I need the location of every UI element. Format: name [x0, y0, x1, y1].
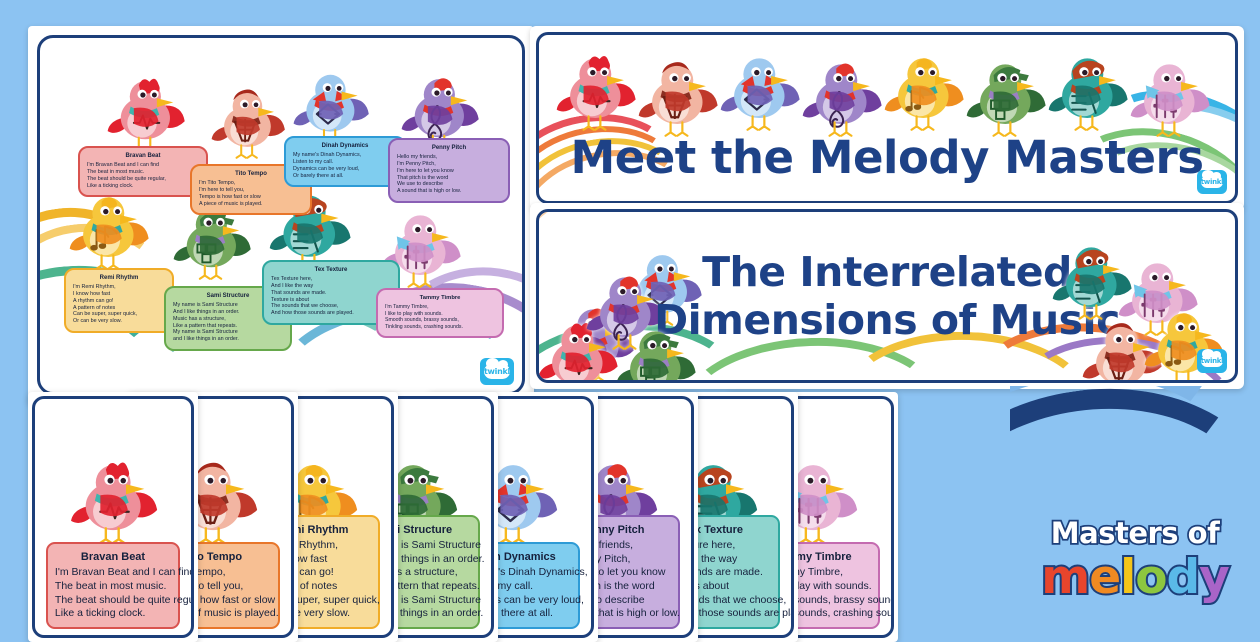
- twinkl-logo: twinkl: [1197, 170, 1227, 194]
- bubble-line: Or can be very slow.: [73, 318, 165, 325]
- card-frame: Bravan BeatI'm Bravan Beat and I can fin…: [32, 396, 194, 638]
- masters-of-melody-wordmark: Masters ofmelody: [1010, 516, 1260, 605]
- twinkl-logo-text: twinkl: [1201, 357, 1223, 365]
- bubble-line: I'm here to tell you,: [199, 187, 303, 194]
- bird-bravan-beat: [106, 72, 188, 150]
- bird-dinah-dynamics: [719, 49, 803, 129]
- bird-tito-tempo: [637, 55, 721, 135]
- bubble-line: I know how fast: [73, 291, 165, 298]
- banner-interrelated-dimensions-of-music[interactable]: The Interrelated Dimensions of Music twi…: [530, 203, 1244, 389]
- bubble-bravan-beat: Bravan BeatI'm Bravan Beat and I can fin…: [78, 146, 208, 197]
- bubble-remi-rhythm: Remi RhythmI'm Remi Rhythm,I know how fa…: [64, 268, 174, 333]
- bird-tammy-timbre: [1129, 55, 1213, 135]
- bubble-line: Texture is about: [271, 297, 391, 304]
- banner1-frame: Meet the Melody Masters twinkl: [536, 32, 1238, 204]
- logo-letter: l: [1120, 550, 1135, 605]
- logo-letter: m: [1041, 550, 1089, 605]
- twinkl-logo-text: twinkl: [484, 367, 510, 376]
- banner2-frame: The Interrelated Dimensions of Music twi…: [536, 209, 1238, 383]
- bubble-line: Tinkling sounds, crashing sounds.: [385, 324, 495, 330]
- bird-penny-pitch: [400, 70, 482, 148]
- bird-sami-structure: [615, 322, 699, 383]
- logo-letter: e: [1089, 550, 1120, 605]
- card-line: Like a ticking clock.: [55, 607, 171, 621]
- bubble-line: A rhythm can go!: [73, 298, 165, 305]
- bird-dinah-dynamics: [292, 66, 372, 142]
- bubble-line: Tex Texture here,: [271, 276, 391, 283]
- bubble-title: Remi Rhythm: [73, 275, 165, 282]
- card-line: I'm Bravan Beat and I can find: [55, 566, 171, 580]
- logo-letter: d: [1167, 550, 1200, 605]
- bubble-line: And I like the way: [271, 283, 391, 290]
- bubble-line: Or barely there at all.: [293, 173, 397, 180]
- bubble-line: I'm Penny Pitch,: [397, 161, 501, 168]
- bubble-line: I'm Bravan Beat and I can find: [87, 162, 199, 169]
- banner1-title: Meet the Melody Masters: [539, 131, 1235, 184]
- bubble-line: Hello my friends,: [397, 154, 501, 161]
- bubble-line: And how those sounds are played.: [271, 310, 391, 317]
- resource-preview-stage: Bravan BeatI'm Bravan Beat and I can fin…: [0, 0, 1260, 630]
- bird-penny-pitch: [801, 55, 885, 135]
- bubble-line: Listen to my call.: [293, 159, 397, 166]
- logo-line-2: melody: [1010, 550, 1260, 605]
- bubble-line: That sounds are made.: [271, 290, 391, 297]
- bubble-line: The beat should be quite regular,: [87, 176, 199, 183]
- bird-tito-tempo: [210, 83, 288, 157]
- bird-bravan-beat: [555, 49, 639, 129]
- card-bubble-bravan-beat: Bravan BeatI'm Bravan Beat and I can fin…: [46, 542, 180, 629]
- bubble-line: I'm Remi Rhythm,: [73, 284, 165, 291]
- melody-masters-poster[interactable]: Bravan BeatI'm Bravan Beat and I can fin…: [28, 26, 534, 404]
- bird-remi-rhythm: [68, 188, 152, 268]
- bubble-line: Tempo is how fast or slow: [199, 194, 303, 201]
- bird-tex-texture: [1047, 49, 1131, 129]
- bubble-line: My name's Dinah Dynamics,: [293, 152, 397, 159]
- bird-remi-rhythm: [883, 49, 967, 129]
- logo-letter: o: [1135, 550, 1166, 605]
- bubble-line: We use to describe: [397, 181, 501, 188]
- bubble-line: A piece of music is played.: [199, 201, 303, 208]
- card-title: Bravan Beat: [55, 550, 171, 564]
- bubble-title: Bravan Beat: [87, 153, 199, 160]
- bubble-line: Dynamics can be very loud,: [293, 166, 397, 173]
- bird-sami-structure: [965, 55, 1049, 135]
- bubble-line: Can be super, super quick,: [73, 311, 165, 318]
- bubble-line: My name is Sami Structure: [173, 329, 283, 336]
- poster-frame: Bravan BeatI'm Bravan Beat and I can fin…: [37, 35, 525, 395]
- card-line: The beat in most music.: [55, 580, 171, 594]
- bubble-line: The sounds that we choose,: [271, 303, 391, 310]
- bubble-line: I'm here to let you know: [397, 168, 501, 175]
- bubble-line: and I like things in an order.: [173, 336, 283, 343]
- banner-meet-the-melody-masters[interactable]: Meet the Melody Masters twinkl: [530, 26, 1244, 210]
- bird-bravan-beat: [69, 455, 161, 542]
- bubble-title: Penny Pitch: [397, 145, 501, 152]
- bubble-penny-pitch: Penny PitchHello my friends,I'm Penny Pi…: [388, 138, 510, 203]
- card-line: The beat should be quite regular,: [55, 594, 171, 608]
- bubble-line: A pattern of notes: [73, 305, 165, 312]
- bubble-line: A sound that is high or low.: [397, 188, 501, 195]
- bubble-tammy-timbre: Tammy TimbreI'm Tammy Timbre,I like to p…: [376, 288, 504, 338]
- twinkl-logo-text: twinkl: [1201, 178, 1223, 186]
- logo-letter: y: [1199, 550, 1229, 605]
- bubble-line: Like a ticking clock.: [87, 183, 199, 190]
- bubble-line: That pitch is the word: [397, 175, 501, 182]
- bubble-title: Tammy Timbre: [385, 295, 495, 302]
- card-bravan-beat[interactable]: Bravan BeatI'm Bravan Beat and I can fin…: [28, 392, 198, 642]
- logo-line-1: Masters of: [1010, 516, 1260, 550]
- masters-of-melody-logo: Masters ofmelody: [1010, 386, 1260, 630]
- bubble-line: The beat in most music.: [87, 169, 199, 176]
- twinkl-logo: twinkl: [480, 358, 514, 385]
- bubble-title: Dinah Dynamics: [293, 143, 397, 150]
- twinkl-logo: twinkl: [1197, 349, 1227, 373]
- bubble-title: Tex Texture: [271, 267, 391, 274]
